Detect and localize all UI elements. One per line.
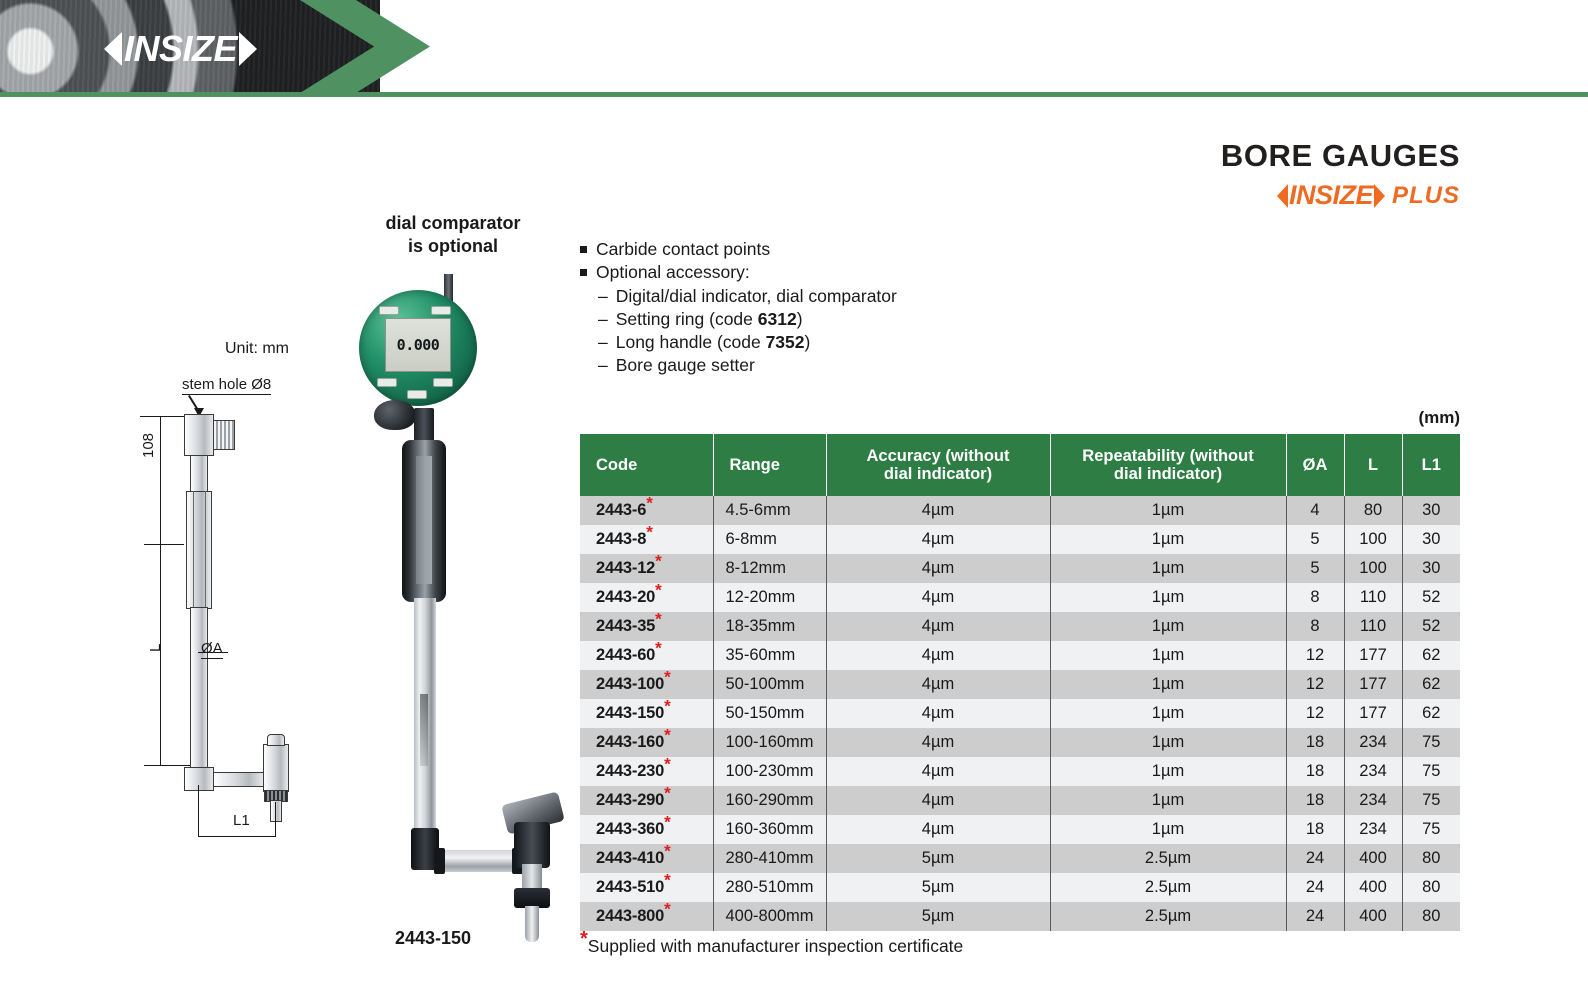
l1-dim-line [198,836,276,837]
cell-diameter-a: 4 [1286,496,1344,525]
cell-l1: 52 [1402,583,1460,612]
cell-l: 234 [1344,757,1402,786]
spec-table: Code Range Accuracy (without dial indica… [580,434,1460,931]
drawing-measuring-head [263,744,289,792]
cell-diameter-a: 24 [1286,844,1344,873]
dim-line-L [160,544,161,766]
cell-range: 100-230mm [713,757,826,786]
cell-accuracy: 4µm [826,612,1050,641]
column-header-accuracy-line2: dial indicator) [831,465,1046,483]
footnote-text: Supplied with manufacturer inspection ce… [588,936,963,956]
cell-repeatability: 1µm [1050,612,1286,641]
accessory-item-label: Long handle (code 7352) [616,331,811,354]
title-block: BORE GAUGES INSIZE PLUS [1221,140,1460,209]
drawing-knurled-knob [213,420,235,450]
cell-accuracy: 5µm [826,873,1050,902]
table-row: 2443-230*100-230mm4µm1µm1823475 [580,757,1460,786]
cell-range: 280-510mm [713,873,826,902]
feature-item: Optional accessory: [580,261,1100,284]
cell-l: 110 [1344,612,1402,641]
cell-diameter-a: 5 [1286,554,1344,583]
feature-item-label: Carbide contact points [596,238,770,261]
cell-range: 160-290mm [713,786,826,815]
cell-code: 2443-60* [580,641,713,670]
cell-accuracy: 5µm [826,844,1050,873]
table-row: 2443-290*160-290mm4µm1µm1823475 [580,786,1460,815]
cell-repeatability: 1µm [1050,525,1286,554]
column-header-repeatability-line1: Repeatability (without [1055,447,1282,465]
indicator-button-br [433,378,453,387]
cell-diameter-a: 8 [1286,612,1344,641]
cell-accuracy: 4µm [826,757,1050,786]
cell-range: 18-35mm [713,612,826,641]
cell-range: 280-410mm [713,844,826,873]
cell-l1: 62 [1402,699,1460,728]
cell-l1: 80 [1402,902,1460,931]
dimension-l1-label: L1 [233,812,250,829]
handle-inner-line-left [193,491,194,609]
insize-logo[interactable]: INSIZE [88,28,273,70]
footnote: *Supplied with manufacturer inspection c… [580,936,963,957]
measuring-head-block [514,822,550,868]
cell-l: 177 [1344,699,1402,728]
handle-inner-line-right [205,491,206,609]
technical-drawing: Unit: mm stem hole Ø8 ØA 108 L L1 [120,330,360,850]
table-row: 2443-360*160-360mm4µm1µm1823475 [580,815,1460,844]
column-header-accuracy-line1: Accuracy (without [831,447,1046,465]
cell-l: 177 [1344,670,1402,699]
cell-code: 2443-35* [580,612,713,641]
cell-accuracy: 4µm [826,670,1050,699]
cell-range: 4.5-6mm [713,496,826,525]
dim-line-108 [160,416,161,544]
cell-l: 110 [1344,583,1402,612]
arrow-left-icon [1277,184,1288,208]
accessory-item: – Bore gauge setter [580,354,1100,377]
cell-accuracy: 4µm [826,786,1050,815]
cell-l1: 75 [1402,815,1460,844]
column-header-diameter-a-line1: ØA [1291,456,1340,474]
cell-repeatability: 1µm [1050,815,1286,844]
insize-plus-brand-text: INSIZE [1289,182,1373,209]
dash-icon: – [598,354,608,377]
cell-code: 2443-12* [580,554,713,583]
cell-range: 160-360mm [713,815,826,844]
bullet-square-icon [580,246,587,253]
table-unit-note: (mm) [1418,408,1460,428]
arm-band-left [434,848,445,874]
cell-l1: 80 [1402,844,1460,873]
plus-suffix-text: PLUS [1392,184,1460,208]
table-row: 2443-6*4.5-6mm4µm1µm48030 [580,496,1460,525]
ext-line-mid [144,544,184,545]
spec-table-body: 2443-6*4.5-6mm4µm1µm480302443-8*6-8mm4µm… [580,496,1460,931]
table-row: 2443-410*280-410mm5µm2.5µm2440080 [580,844,1460,873]
asterisk-icon: * [664,871,670,890]
cell-code: 2443-510* [580,873,713,902]
cell-code: 2443-160* [580,728,713,757]
asterisk-icon: * [655,639,661,658]
drawing-cross-arm [213,772,265,787]
l1-ext-right [275,802,276,837]
cell-l: 400 [1344,844,1402,873]
cell-diameter-a: 18 [1286,786,1344,815]
column-header-range-line1: Range [730,456,822,474]
arrow-left-icon [104,32,122,66]
cell-repeatability: 1µm [1050,670,1286,699]
cell-l: 400 [1344,873,1402,902]
column-header-l-line1: L [1349,456,1398,474]
dial-comparator-note-line1: dial comparator [338,212,568,235]
cell-code: 2443-290* [580,786,713,815]
cell-l: 80 [1344,496,1402,525]
cell-diameter-a: 8 [1286,583,1344,612]
table-row: 2443-800*400-800mm5µm2.5µm2440080 [580,902,1460,931]
table-row: 2443-20*12-20mm4µm1µm811052 [580,583,1460,612]
stem-hole-label: stem hole Ø8 [182,376,271,395]
cell-code: 2443-150* [580,699,713,728]
asterisk-icon: * [664,755,670,774]
cell-range: 6-8mm [713,525,826,554]
accessory-code: 7352 [766,332,805,352]
product-photo: dial comparator is optional 0.000 2443-1… [338,212,568,952]
column-header-l1: L1 [1402,434,1460,496]
cell-diameter-a: 12 [1286,670,1344,699]
asterisk-icon: * [655,552,661,571]
dash-icon: – [598,285,608,308]
feature-item-label: Optional accessory: [596,261,750,284]
table-header-row: Code Range Accuracy (without dial indica… [580,434,1460,496]
cell-repeatability: 1µm [1050,641,1286,670]
cell-accuracy: 4µm [826,554,1050,583]
cell-diameter-a: 12 [1286,641,1344,670]
cell-accuracy: 4µm [826,525,1050,554]
asterisk-icon: * [664,697,670,716]
column-header-accuracy: Accuracy (without dial indicator) [826,434,1050,496]
table-row: 2443-12*8-12mm4µm1µm510030 [580,554,1460,583]
asterisk-icon: * [664,842,670,861]
cell-code: 2443-6* [580,496,713,525]
cell-accuracy: 5µm [826,902,1050,931]
cell-accuracy: 4µm [826,583,1050,612]
accessory-tail: ) [805,332,811,352]
cell-accuracy: 4µm [826,699,1050,728]
cell-code: 2443-800* [580,902,713,931]
cell-code: 2443-410* [580,844,713,873]
diameter-a-label: ØA [201,640,223,659]
cell-repeatability: 2.5µm [1050,902,1286,931]
accessory-code: 6312 [758,309,797,329]
column-header-code-line1: Code [596,456,709,474]
column-header-l1-line1: L1 [1407,456,1457,474]
accessory-tail: ) [797,309,803,329]
header-green-rule [0,92,1588,97]
cell-range: 35-60mm [713,641,826,670]
cell-repeatability: 1µm [1050,786,1286,815]
cell-range: 50-100mm [713,670,826,699]
cell-accuracy: 4µm [826,728,1050,757]
cell-l: 400 [1344,902,1402,931]
asterisk-icon: * [646,523,652,542]
cell-code: 2443-360* [580,815,713,844]
accessory-text: Long handle (code [616,332,766,352]
cell-l: 234 [1344,786,1402,815]
insize-plus-brand: INSIZE PLUS [1221,182,1460,209]
arrow-right-icon [239,32,257,66]
cell-range: 100-160mm [713,728,826,757]
table-row: 2443-160*100-160mm4µm1µm1823475 [580,728,1460,757]
cell-diameter-a: 18 [1286,728,1344,757]
l1-ext-left [198,785,199,837]
column-header-repeatability: Repeatability (without dial indicator) [1050,434,1286,496]
cell-diameter-a: 18 [1286,757,1344,786]
cell-l: 100 [1344,554,1402,583]
accessory-text: Setting ring (code [616,309,758,329]
cell-l: 234 [1344,815,1402,844]
cell-accuracy: 4µm [826,496,1050,525]
cell-l1: 30 [1402,496,1460,525]
cell-diameter-a: 18 [1286,815,1344,844]
asterisk-icon: * [655,581,661,600]
measuring-head-nut [514,888,550,908]
column-header-range: Range [713,434,826,496]
shaft-branding [420,694,428,766]
cell-repeatability: 2.5µm [1050,873,1286,902]
cell-repeatability: 1µm [1050,699,1286,728]
column-header-l: L [1344,434,1402,496]
dial-comparator-note-line2: is optional [338,235,568,258]
cell-repeatability: 1µm [1050,496,1286,525]
accessory-item: – Digital/dial indicator, dial comparato… [580,285,1100,308]
cell-l1: 62 [1402,670,1460,699]
cell-range: 50-150mm [713,699,826,728]
cell-l: 177 [1344,641,1402,670]
cell-range: 12-20mm [713,583,826,612]
cell-l1: 30 [1402,525,1460,554]
drawing-head-block [184,414,214,456]
cell-l: 100 [1344,525,1402,554]
digital-indicator: 0.000 [359,290,477,406]
cell-code: 2443-20* [580,583,713,612]
indicator-button-tr [431,306,451,315]
cell-repeatability: 1µm [1050,583,1286,612]
dimension-108-label: 108 [140,433,157,458]
asterisk-icon: * [664,813,670,832]
accessory-item: – Long handle (code 7352) [580,331,1100,354]
insize-logo-text: INSIZE [124,28,237,70]
indicator-button-bottom [407,390,427,399]
table-row: 2443-60*35-60mm4µm1µm1217762 [580,641,1460,670]
cell-range: 400-800mm [713,902,826,931]
dash-icon: – [598,308,608,331]
cell-l1: 80 [1402,873,1460,902]
cell-code: 2443-100* [580,670,713,699]
dash-icon: – [598,331,608,354]
cell-accuracy: 4µm [826,641,1050,670]
cell-diameter-a: 24 [1286,902,1344,931]
asterisk-icon: * [655,610,661,629]
spec-table-wrapper: Code Range Accuracy (without dial indica… [580,434,1460,931]
cell-l1: 75 [1402,757,1460,786]
cell-l1: 62 [1402,641,1460,670]
cell-repeatability: 1µm [1050,554,1286,583]
cell-repeatability: 1µm [1050,757,1286,786]
drawing-head-cap [267,734,285,746]
indicator-button-bl [377,378,397,387]
handle-label-strip [416,456,432,584]
bullet-square-icon [580,269,587,276]
cell-code: 2443-230* [580,757,713,786]
cell-repeatability: 1µm [1050,728,1286,757]
cell-diameter-a: 5 [1286,525,1344,554]
indicator-lcd: 0.000 [385,318,451,372]
cell-l1: 75 [1402,728,1460,757]
table-row: 2443-8*6-8mm4µm1µm510030 [580,525,1460,554]
dimension-l-label: L [147,644,164,652]
cell-l1: 75 [1402,786,1460,815]
indicator-reading: 0.000 [397,336,440,354]
arrow-right-icon [1374,184,1385,208]
header-banner: INSIZE [0,0,1588,97]
feature-item: Carbide contact points [580,238,1100,261]
diameter-leader [198,652,228,653]
cell-diameter-a: 12 [1286,699,1344,728]
column-header-repeatability-line2: dial indicator) [1055,465,1282,483]
accessory-item-label: Bore gauge setter [616,354,755,377]
insize-plus-mark: INSIZE [1277,182,1385,209]
table-row: 2443-100*50-100mm4µm1µm1217762 [580,670,1460,699]
cell-diameter-a: 24 [1286,873,1344,902]
cell-range: 8-12mm [713,554,826,583]
column-header-diameter-a: ØA [1286,434,1344,496]
cell-accuracy: 4µm [826,815,1050,844]
cell-repeatability: 2.5µm [1050,844,1286,873]
gauge-shaft [414,598,436,836]
accessory-item-label: Digital/dial indicator, dial comparator [616,285,897,308]
asterisk-icon: * [646,494,652,513]
drawing-upper-stem [190,455,208,493]
indicator-button-tl [379,306,399,315]
footnote-asterisk-icon: * [580,928,588,950]
dial-comparator-note: dial comparator is optional [338,212,568,258]
indicator-clamp-knob [374,400,416,430]
column-header-code: Code [580,434,713,496]
product-caption: 2443-150 [338,928,528,949]
asterisk-icon: * [664,784,670,803]
asterisk-icon: * [664,668,670,687]
asterisk-icon: * [664,726,670,745]
feature-list: Carbide contact points Optional accessor… [580,238,1100,378]
unit-label: Unit: mm [225,340,289,358]
table-row: 2443-510*280-510mm5µm2.5µm2440080 [580,873,1460,902]
page-title: BORE GAUGES [1221,140,1460,171]
gauge-handle-grip [402,440,446,602]
table-row: 2443-35*18-35mm4µm1µm811052 [580,612,1460,641]
drawing-handle-tube [186,491,212,609]
accessory-item: – Setting ring (code 6312) [580,308,1100,331]
accessory-item-label: Setting ring (code 6312) [616,308,803,331]
cell-l1: 30 [1402,554,1460,583]
drawing-shaft [190,607,208,771]
table-row: 2443-150*50-150mm4µm1µm1217762 [580,699,1460,728]
cell-l1: 52 [1402,612,1460,641]
asterisk-icon: * [664,900,670,919]
cell-l: 234 [1344,728,1402,757]
cell-code: 2443-8* [580,525,713,554]
